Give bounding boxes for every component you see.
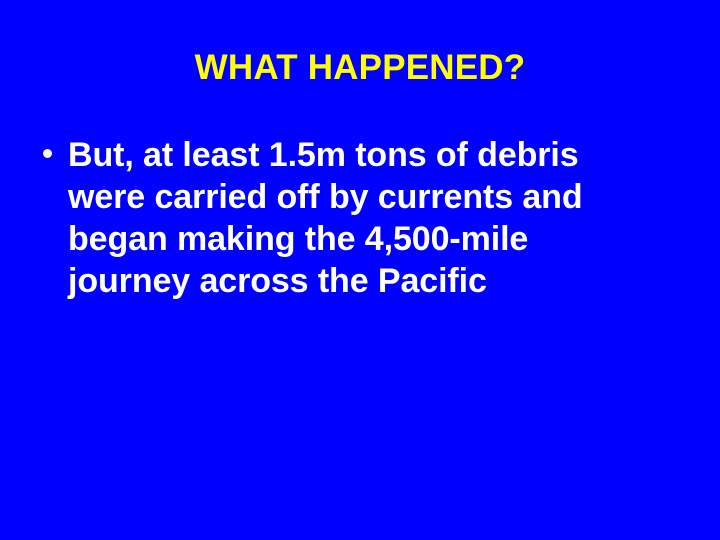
list-item: But, at least 1.5m tons of debris were c…	[40, 134, 650, 302]
page-title: WHAT HAPPENED?	[0, 48, 720, 88]
presentation-slide: WHAT HAPPENED? But, at least 1.5m tons o…	[0, 0, 720, 540]
bullet-dot-icon	[43, 149, 52, 158]
slide-body: But, at least 1.5m tons of debris were c…	[40, 134, 650, 302]
bullet-text: But, at least 1.5m tons of debris were c…	[68, 134, 650, 302]
